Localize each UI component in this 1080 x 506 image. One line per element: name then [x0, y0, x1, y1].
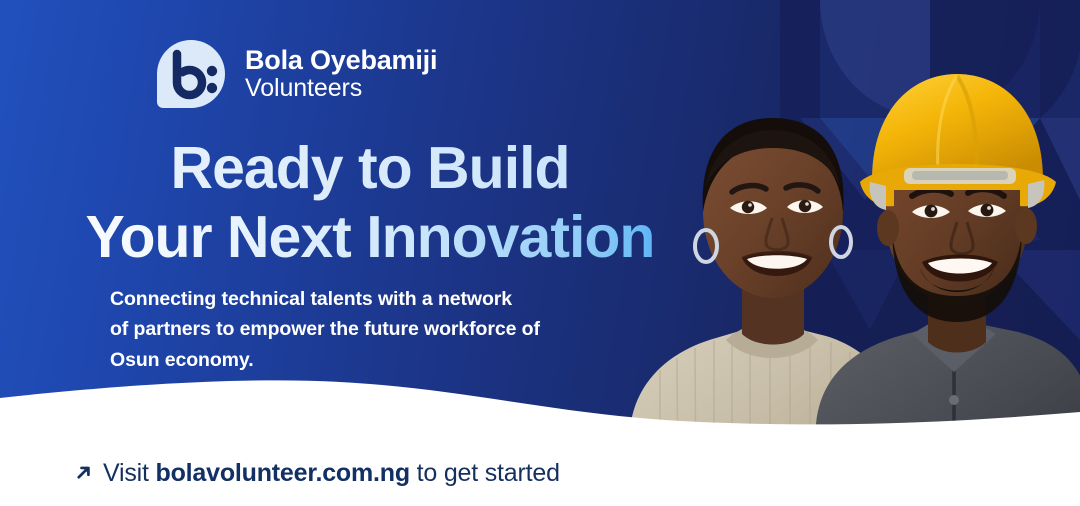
cta-prefix: Visit — [103, 459, 156, 487]
cta-text: Visit bolavolunteer.com.ng to get starte… — [103, 459, 560, 488]
cta-suffix: to get started — [410, 459, 560, 487]
people-photo — [620, 0, 1080, 506]
body-line-2: of partners to empower the future workfo… — [110, 314, 670, 344]
arrow-up-right-icon — [74, 463, 93, 482]
body-line-1: Connecting technical talents with a netw… — [110, 284, 670, 314]
footer-cta[interactable]: Visit bolavolunteer.com.ng to get starte… — [74, 459, 560, 488]
body-copy: Connecting technical talents with a netw… — [110, 284, 670, 375]
brand-logo-lockup[interactable]: Bola Oyebamiji Volunteers — [155, 38, 437, 110]
logo-subtitle: Volunteers — [245, 75, 437, 102]
b-colon-speech-bubble-icon — [155, 38, 227, 110]
promo-banner: Bola Oyebamiji Volunteers Ready to Build… — [0, 0, 1080, 506]
cta-url[interactable]: bolavolunteer.com.ng — [156, 459, 410, 487]
logo-title: Bola Oyebamiji — [245, 46, 437, 75]
body-line-3: Osun economy. — [110, 345, 670, 375]
